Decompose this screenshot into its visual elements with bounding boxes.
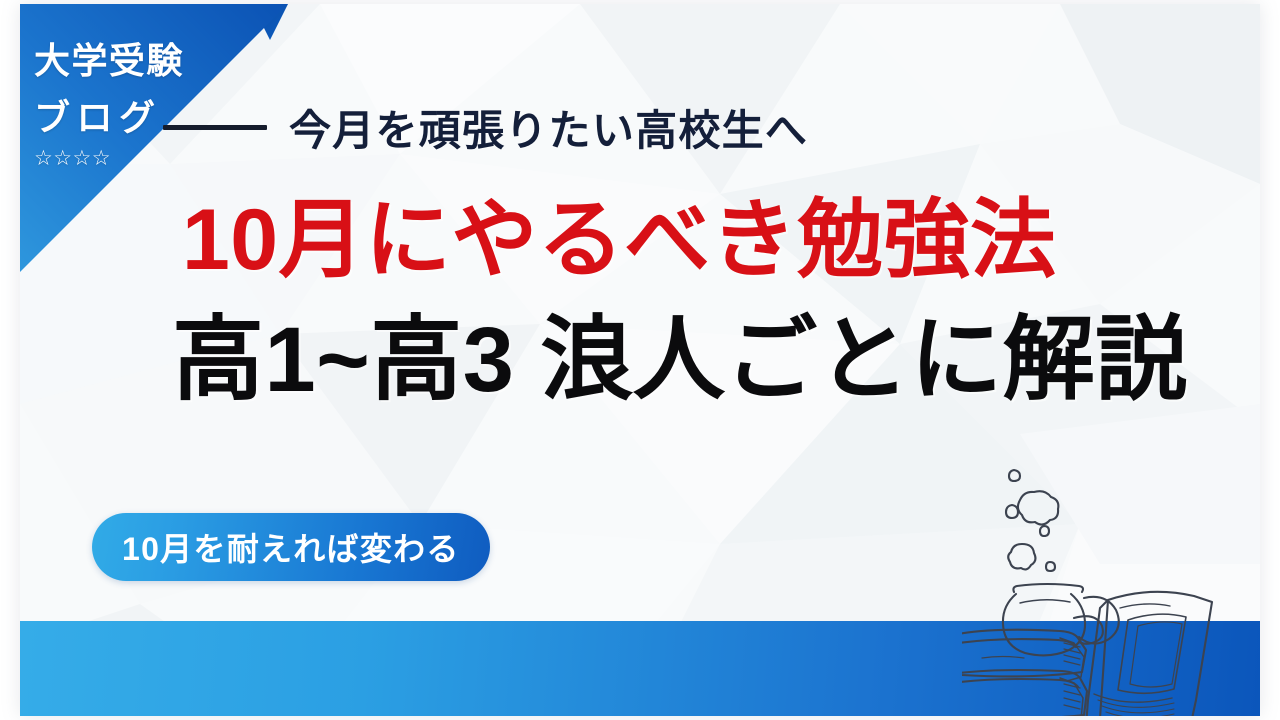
standing-book xyxy=(1086,592,1212,716)
book-stack xyxy=(962,630,1087,716)
subtitle-dash-icon xyxy=(163,125,267,130)
illustration-books-teapot xyxy=(962,448,1252,716)
highlight-badge: 10月を耐えれば変わる xyxy=(92,513,490,581)
headline-line-black: 高1~高3 浪人ごとに解説 xyxy=(172,309,1188,412)
steam-puffs xyxy=(1006,470,1058,571)
thumbnail-card: 大学受験 ブログ ☆☆☆☆ 今月を頑張りたい高校生へ 10月にやるべき勉強法 高… xyxy=(20,4,1260,716)
subtitle-text: 今月を頑張りたい高校生へ xyxy=(289,97,808,158)
thumbnail-canvas: 大学受験 ブログ ☆☆☆☆ 今月を頑張りたい高校生へ 10月にやるべき勉強法 高… xyxy=(0,0,1280,720)
headline-line-red: 10月にやるべき勉強法 xyxy=(182,192,1056,288)
teapot xyxy=(1003,584,1103,655)
subtitle-row: 今月を頑張りたい高校生へ xyxy=(163,97,808,158)
